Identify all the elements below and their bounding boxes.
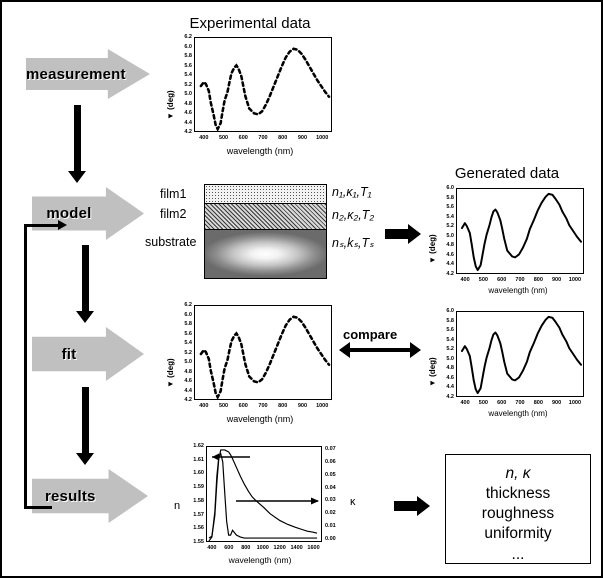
y-axis-label-n: n (174, 500, 180, 512)
plot-area-fit-measured (194, 305, 332, 400)
y-tick-labels: 6.05.8 5.65.4 5.25.0 4.84.6 4.44.2 (434, 311, 454, 397)
series-psi-experimental (195, 38, 331, 131)
x-tick-labels: 400500 600700 800900 1000 (194, 403, 332, 413)
arrow-shaft (385, 229, 410, 239)
flow-arrow-model-to-generated (385, 224, 421, 244)
series-psi-fit-generated (457, 312, 583, 396)
y-tick-labels: 6.26.0 5.85.6 5.45.2 5.04.8 4.64.4 4.2 (172, 37, 192, 132)
y-tick-labels-left: 1.621.61 1.601.59 1.581.57 1.561.55 (182, 446, 204, 542)
results-line-thickness: thickness (486, 484, 551, 504)
series-psi-generated (457, 189, 583, 273)
film-stack-diagram (204, 184, 327, 279)
stack-label-substrate: substrate (145, 235, 196, 249)
stack-layer-film1 (205, 185, 326, 204)
series-psi-fit-measured (195, 306, 331, 399)
y-tick-labels: 6.26.0 5.85.6 5.45.2 5.04.8 4.64.4 4.2 (172, 305, 192, 400)
arrow-head-right (410, 342, 421, 358)
arrow-head (76, 453, 94, 465)
loop-bottom-segment (24, 506, 52, 509)
stack-params-substrate: nₛ,kₛ,Tₛ (332, 235, 374, 250)
plot-area-generated (456, 188, 584, 274)
flow-arrow-to-results-box (394, 496, 430, 516)
loop-vertical-segment (24, 224, 27, 509)
y2-axis-label-kappa: κ (350, 496, 356, 508)
arrow-head (408, 224, 421, 244)
arrow-head (417, 496, 430, 516)
diagram-canvas: measurement model fit results Experiment… (0, 0, 603, 578)
feedback-loop-results-to-model (24, 224, 72, 509)
arrow-shaft (82, 245, 89, 312)
y-tick-labels: 6.05.8 5.65.4 5.25.0 4.84.6 4.44.2 (434, 188, 454, 274)
loop-arrow-head (58, 220, 67, 230)
arrow-shaft (348, 348, 412, 352)
arrow-shaft (74, 105, 81, 172)
results-line-ellipsis: ... (512, 545, 525, 565)
stack-label-film1: film1 (160, 187, 186, 201)
x-axis-label-fit-measured: wavelength (nm) (185, 414, 335, 424)
arrow-head (68, 171, 86, 183)
plot-area-experimental (194, 37, 332, 132)
stack-params-film2: n₂,κ₂,T₂ (332, 208, 374, 222)
kappa-axis-pointer-arrow (236, 498, 319, 505)
arrow-head (76, 311, 94, 323)
arrow-shaft (394, 501, 419, 511)
arrow-shaft (82, 387, 89, 454)
chart-title-experimental: Experimental data (165, 15, 335, 32)
chart-fit-measured: ▼ (deg) 6.26.0 5.85.6 5.45.2 5.04.8 4.64… (165, 302, 335, 417)
flow-arrow-model-to-fit (74, 245, 96, 323)
results-line-uniformity: uniformity (484, 524, 551, 544)
x-axis-label-generated: wavelength (nm) (449, 286, 587, 295)
x-tick-labels: 400600 8001000 12001400 1600 (206, 545, 322, 555)
compare-double-arrow (339, 340, 421, 360)
results-summary-box: n, κ thickness roughness uniformity ... (445, 454, 591, 564)
stack-params-film1: n₁,κ₁,T₁ (332, 185, 372, 199)
chart-fit-generated: ▼ (deg) 6.05.8 5.65.4 5.25.0 4.84.6 4.44… (427, 307, 587, 417)
x-axis-label-optical-constants: wavelength (nm) (190, 555, 330, 565)
step-label-measurement: measurement (26, 66, 108, 83)
stack-label-film2: film2 (160, 207, 186, 221)
plot-area-fit-generated (456, 311, 584, 397)
chart-generated-data: Generated data ▼ (deg) 6.05.8 5.65.4 5.2… (427, 184, 587, 294)
y-tick-labels-right: 0.070.06 0.050.04 0.030.02 0.010.00 (325, 449, 351, 539)
x-axis-label-experimental: wavelength (nm) (185, 146, 335, 156)
loop-top-segment (24, 224, 58, 227)
stack-layer-substrate (205, 230, 326, 278)
x-axis-label-fit-generated: wavelength (nm) (449, 409, 587, 418)
flow-arrow-fit-to-results (74, 387, 96, 465)
chart-optical-constants: n 1.621.61 1.601.59 1.581.57 1.561.55 (172, 442, 372, 567)
step-label-model: model (32, 205, 106, 222)
n-axis-pointer-arrow (212, 454, 250, 461)
axis-pointer-arrows (206, 446, 322, 542)
step-arrow-measurement[interactable]: measurement (26, 49, 150, 99)
stack-layer-film2 (205, 204, 326, 230)
results-line-n-kappa: n, κ (506, 464, 531, 484)
x-tick-labels: 400500 600700 800900 1000 (194, 135, 332, 145)
chart-title-generated: Generated data (427, 165, 587, 182)
results-line-roughness: roughness (482, 504, 554, 524)
chart-experimental-data: Experimental data ▼ (deg) 6.26.0 5.85.6 … (165, 34, 335, 149)
flow-arrow-measurement-to-model (66, 105, 88, 183)
